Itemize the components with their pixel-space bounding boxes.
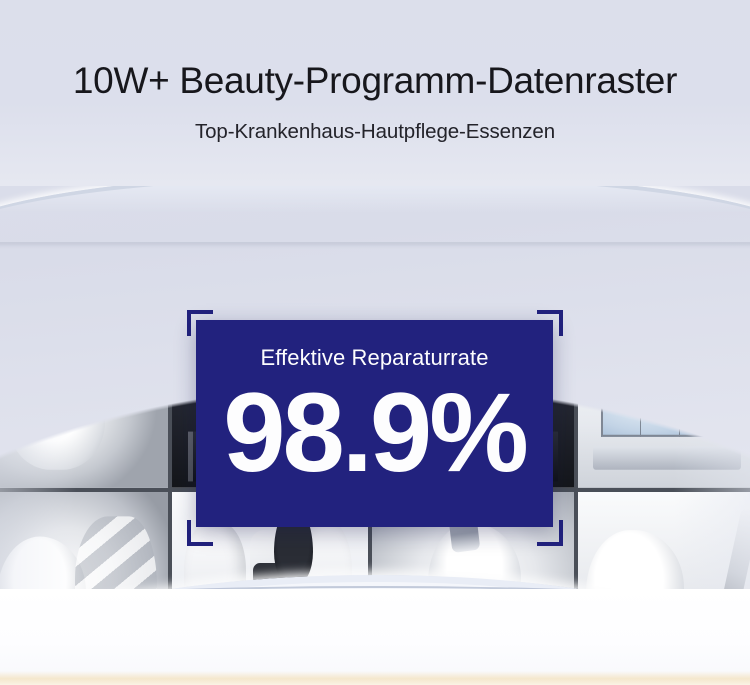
banner-header: 10W+ Beauty-Programm-Datenraster Top-Kra… <box>0 0 750 186</box>
certification-badges <box>608 231 704 259</box>
floor-warm-strip <box>0 671 750 685</box>
page-subtitle: Top-Krankenhaus-Hautpflege-Essenzen <box>0 120 750 144</box>
photo-cell-smiling-face-billboard <box>0 340 168 488</box>
brand-wall-art <box>578 186 750 336</box>
page-title: 10W+ Beauty-Programm-Datenraster <box>0 62 750 101</box>
photo-cell-brand-certification-wall <box>578 186 750 336</box>
expo-side-panel <box>728 381 750 431</box>
kpi-label: Effektive Reparaturrate <box>260 345 488 371</box>
photo-cell-expo-display-screens <box>578 340 750 488</box>
promo-banner: 10W+ Beauty-Programm-Datenraster Top-Kra… <box>0 0 750 685</box>
lab-bottles-art <box>0 186 168 336</box>
badge-green-icon <box>678 231 704 259</box>
kpi-value: 98.9% <box>223 377 526 489</box>
expo-screens-art <box>578 340 750 488</box>
badge-square-icon <box>643 231 669 259</box>
smiling-face-art <box>0 340 168 488</box>
photo-cell-researcher-microscope-lab <box>0 186 168 336</box>
badge-icon <box>608 231 634 259</box>
kpi-card: Effektive Reparaturrate 98.9% <box>196 320 553 527</box>
